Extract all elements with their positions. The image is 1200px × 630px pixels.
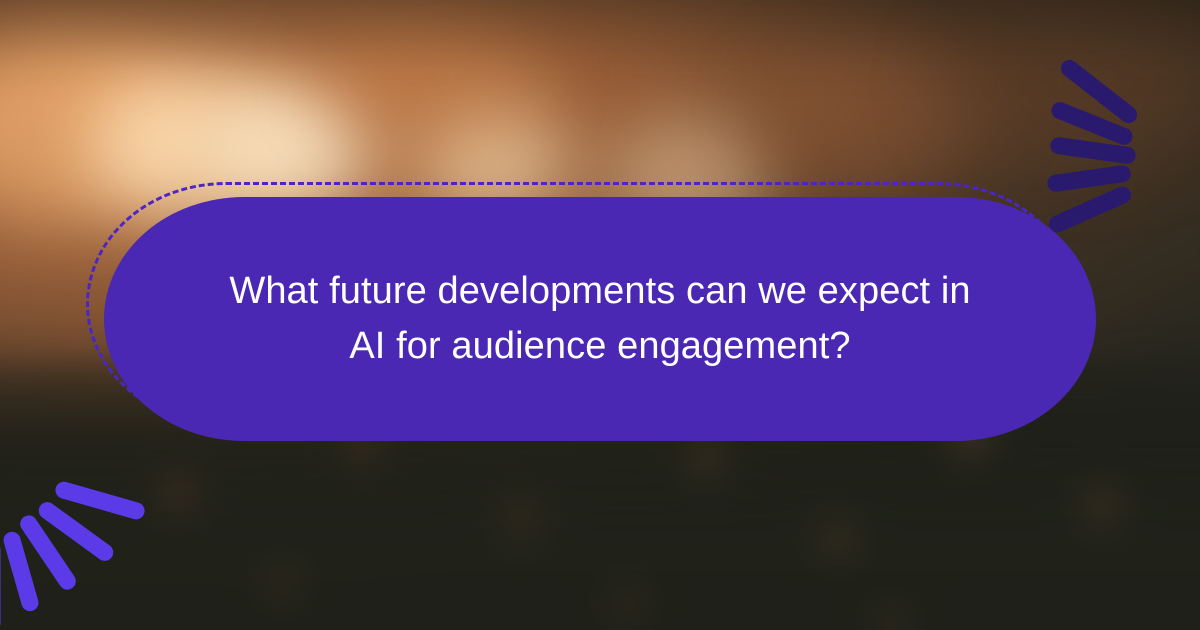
starburst-ray — [1046, 184, 1133, 235]
stage-light-blob — [940, 0, 1200, 170]
starburst-decoration-top-right — [984, 0, 1200, 182]
starburst-ray — [36, 498, 117, 563]
question-card-graphic: What future developments can we expect i… — [0, 0, 1200, 630]
question-card: What future developments can we expect i… — [104, 197, 1096, 441]
starburst-ray — [0, 541, 1, 630]
question-text: What future developments can we expect i… — [220, 264, 980, 375]
starburst-ray — [17, 512, 79, 593]
starburst-ray — [1049, 100, 1135, 148]
starburst-ray — [53, 480, 146, 522]
starburst-decoration-bottom-left — [0, 448, 208, 630]
starburst-ray — [1058, 56, 1141, 126]
starburst-ray — [2, 530, 41, 614]
stage-light-blob — [228, 96, 378, 206]
stage-light-blob — [320, 10, 540, 140]
starburst-ray — [1049, 136, 1137, 165]
starburst-ray — [1046, 164, 1132, 193]
stage-light-blob — [760, 40, 990, 190]
stage-light-blob — [0, 30, 200, 220]
